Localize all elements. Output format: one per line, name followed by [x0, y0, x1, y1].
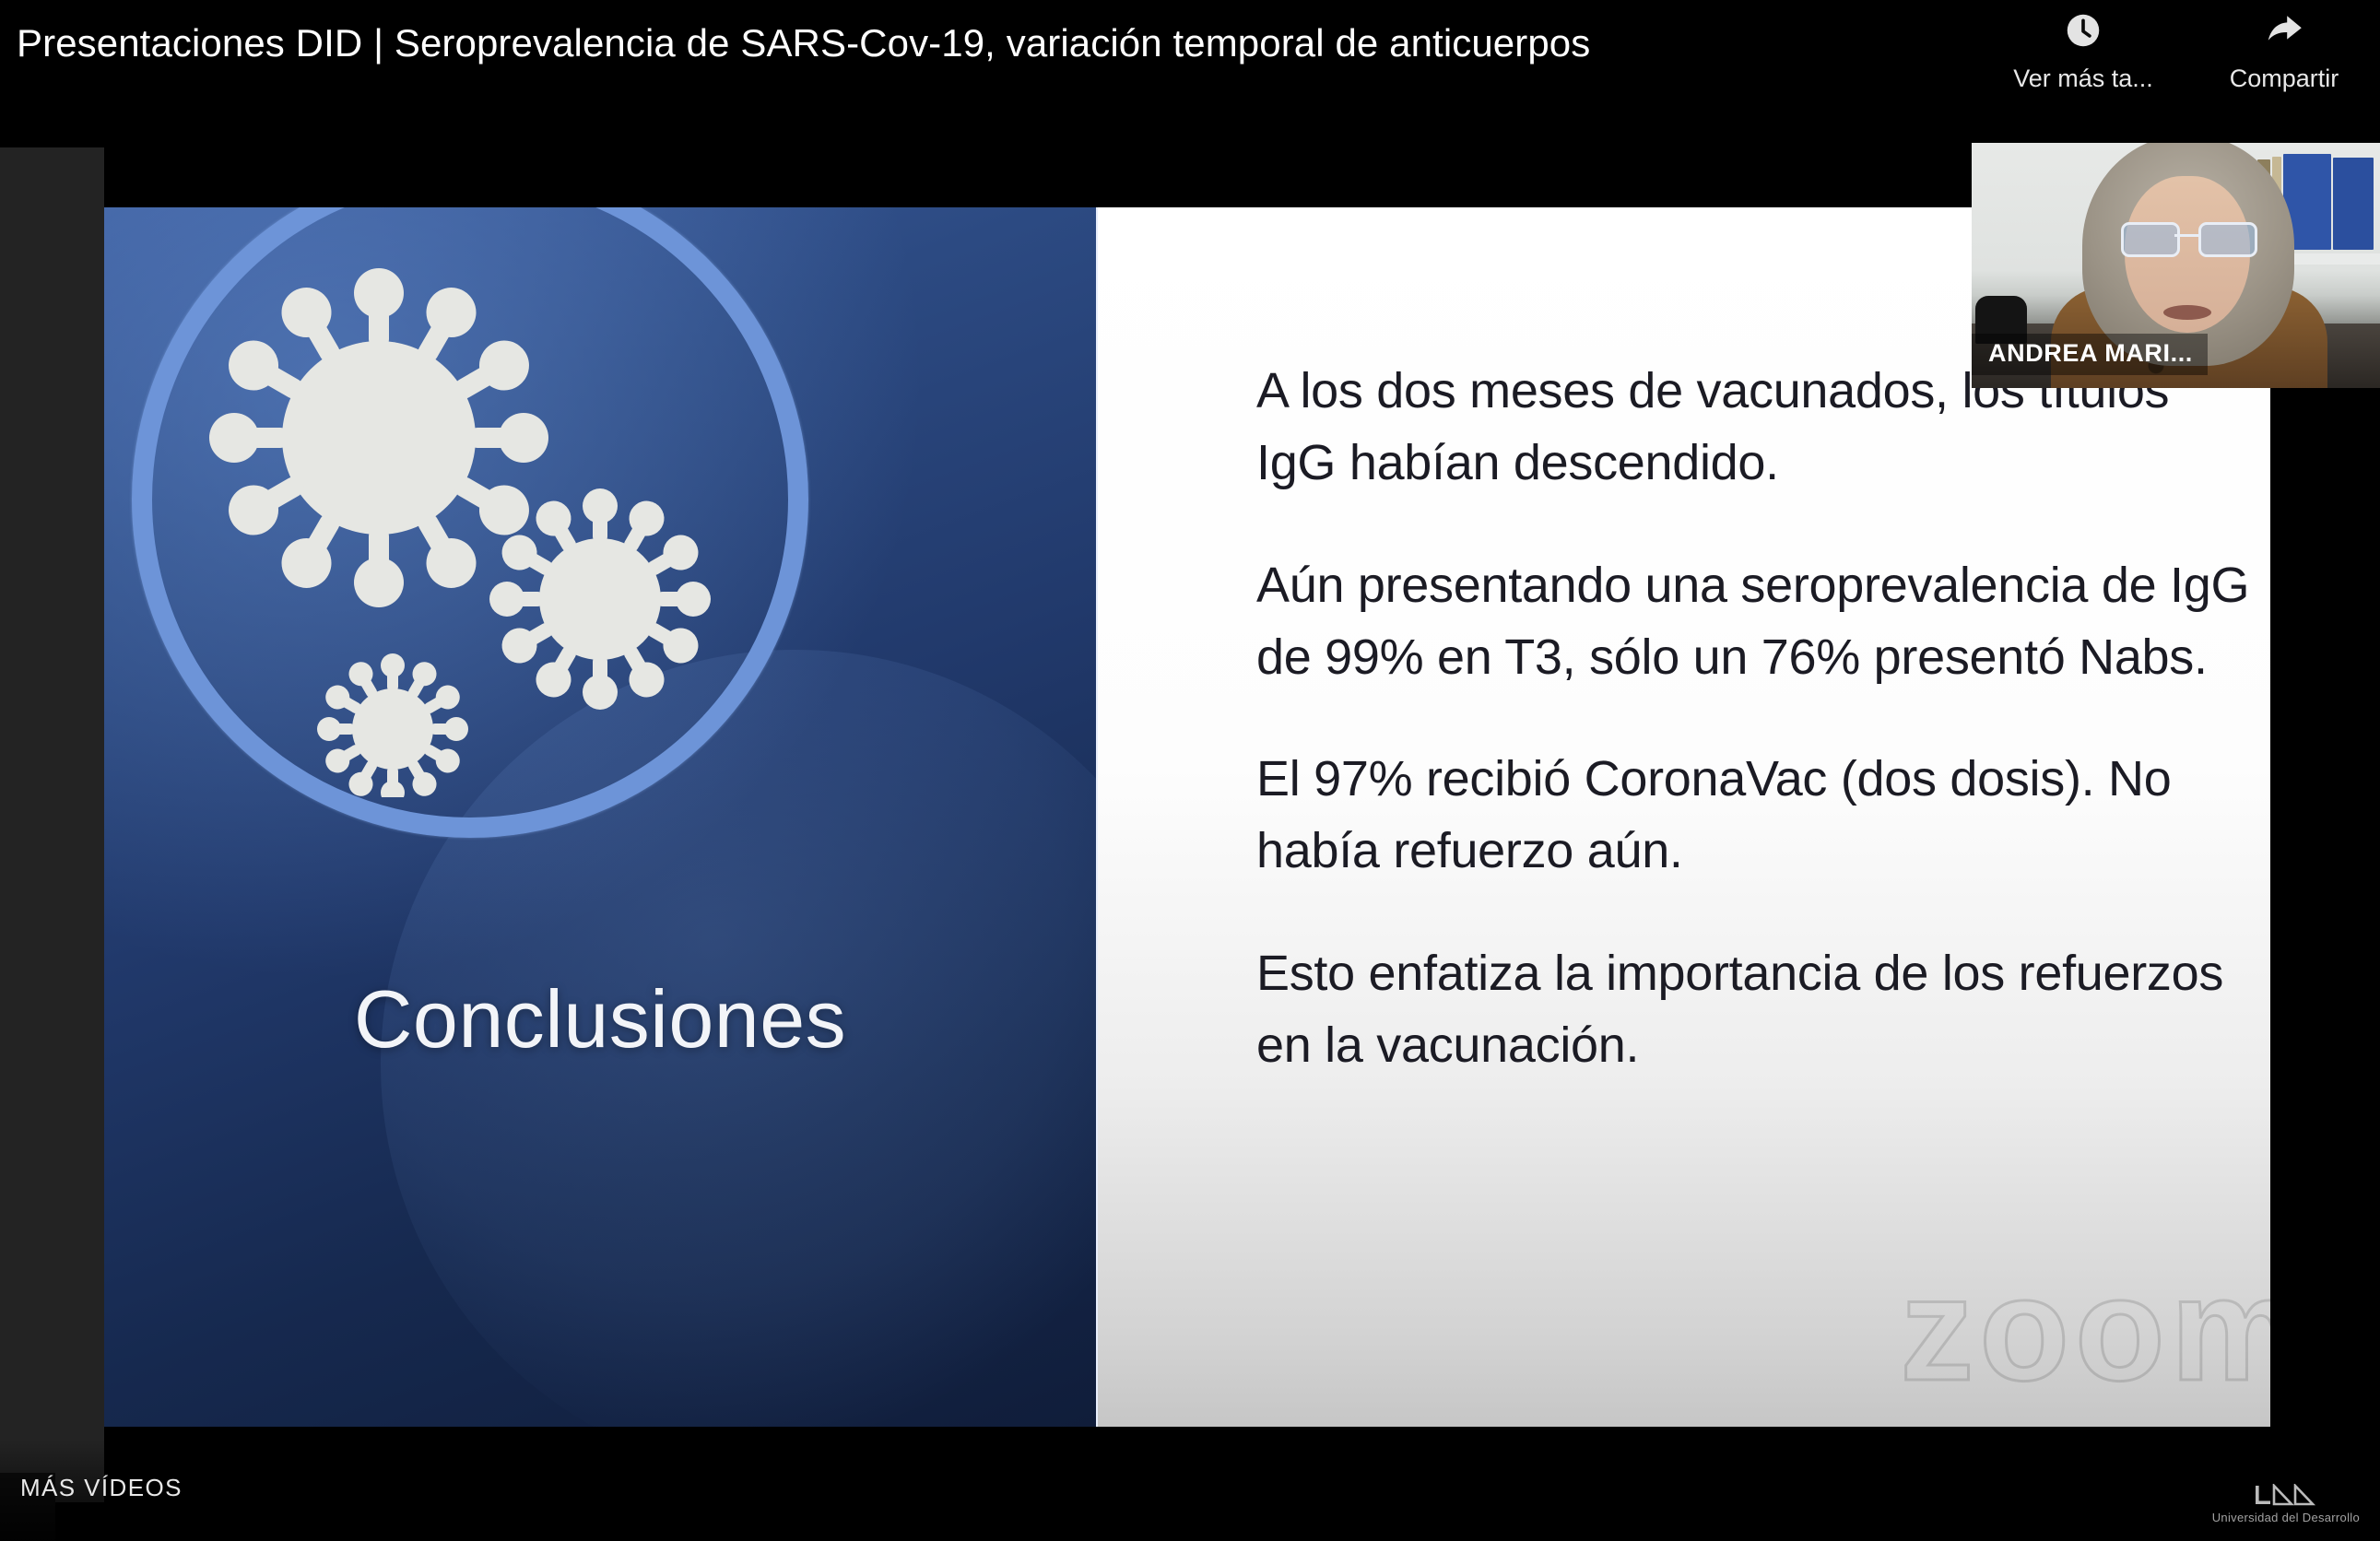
slide-right-panel: A los dos meses de vacunados, los título…: [1098, 207, 2270, 1427]
page-title: Presentaciones DID | Seroprevalencia de …: [17, 20, 1590, 66]
slide-left-panel: Conclusiones: [104, 207, 1096, 1427]
participant-name-badge: ANDREA MARI...: [1972, 334, 2208, 375]
participant-mouth: [2163, 305, 2211, 320]
watch-later-button[interactable]: Ver más ta...: [2009, 6, 2157, 93]
slide-paragraph-4: Esto enfatiza la importancia de los refu…: [1256, 937, 2252, 1082]
udd-logo-subtitle: Universidad del Desarrollo: [2212, 1511, 2360, 1524]
more-videos-button[interactable]: MÁS VÍDEOS: [20, 1474, 183, 1502]
zoom-watermark: zoom: [1900, 1255, 2270, 1403]
slide-paragraph-3: El 97% recibió CoronaVac (dos dosis). No…: [1256, 743, 2252, 888]
glasses-icon: [2121, 222, 2256, 253]
clock-icon: [2062, 6, 2104, 55]
player-top-actions: Ver más ta... Compartir: [2009, 6, 2358, 93]
share-icon: [2262, 6, 2306, 55]
player-left-letterbox: [0, 147, 104, 1502]
slide-paragraph-2: Aún presentando una seroprevalencia de I…: [1256, 549, 2252, 694]
watch-later-label: Ver más ta...: [2013, 65, 2153, 93]
share-label: Compartir: [2230, 65, 2339, 93]
webcam-pip[interactable]: ANDREA MARI...: [1972, 143, 2380, 388]
slide-body-text: A los dos meses de vacunados, los título…: [1256, 355, 2252, 1081]
video-player: Conclusiones A los dos meses de vacunado…: [0, 0, 2380, 1541]
udd-logo-mark: [2254, 1480, 2318, 1508]
slide-title: Conclusiones: [104, 972, 1096, 1066]
share-button[interactable]: Compartir: [2210, 6, 2358, 93]
shared-screen: Conclusiones A los dos meses de vacunado…: [104, 207, 2270, 1427]
player-bottom-gradient: [0, 1440, 2380, 1541]
udd-logo: Universidad del Desarrollo: [2212, 1480, 2360, 1524]
coronavirus-icon: [132, 207, 768, 797]
